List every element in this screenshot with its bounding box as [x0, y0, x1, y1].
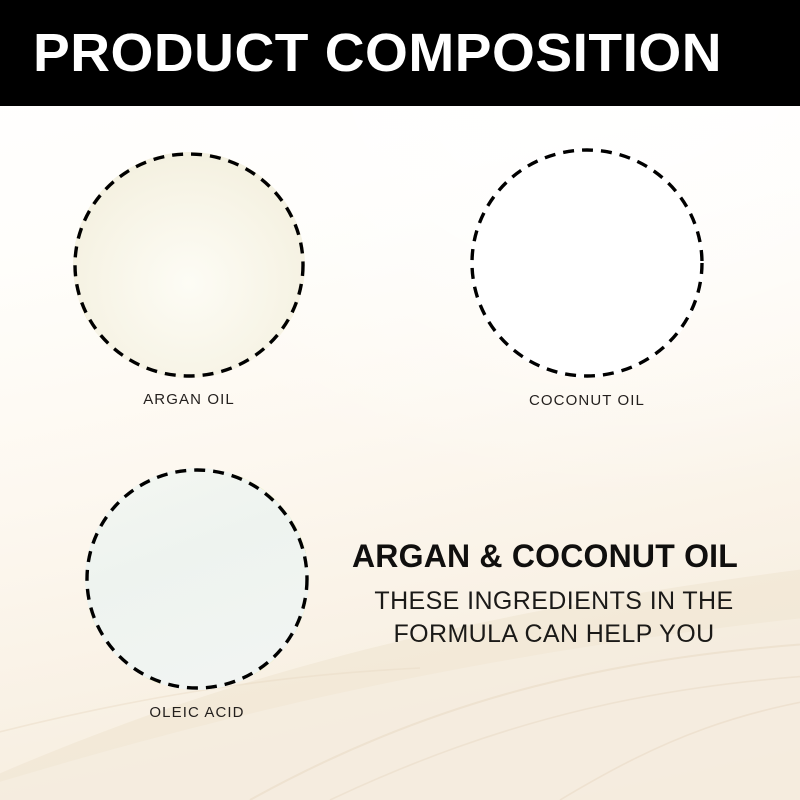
header-banner: PRODUCT COMPOSITION	[0, 0, 800, 106]
coconut-oil-image	[470, 148, 704, 378]
ingredient-oleic-acid: OLEIC ACID	[85, 468, 309, 690]
description-block: ARGAN & COCONUT OIL THESE INGREDIENTS IN…	[352, 540, 772, 651]
ingredient-label-argan-oil: ARGAN OIL	[73, 391, 305, 408]
page-title: PRODUCT COMPOSITION	[33, 26, 722, 80]
description-line-1: THESE INGREDIENTS IN THE	[352, 585, 756, 618]
ingredient-label-coconut-oil: COCONUT OIL	[470, 392, 704, 409]
oleic-acid-image	[85, 468, 309, 690]
description-line-2: FORMULA CAN HELP YOU	[352, 618, 756, 651]
ingredient-argan-oil: ARGAN OIL	[73, 152, 305, 378]
ingredient-label-oleic-acid: OLEIC ACID	[85, 704, 309, 721]
description-heading: ARGAN & COCONUT OIL	[352, 540, 772, 574]
argan-oil-image	[73, 152, 305, 378]
product-composition-infographic: PRODUCT COMPOSITION	[0, 0, 800, 800]
ingredient-coconut-oil: COCONUT OIL	[470, 148, 704, 378]
